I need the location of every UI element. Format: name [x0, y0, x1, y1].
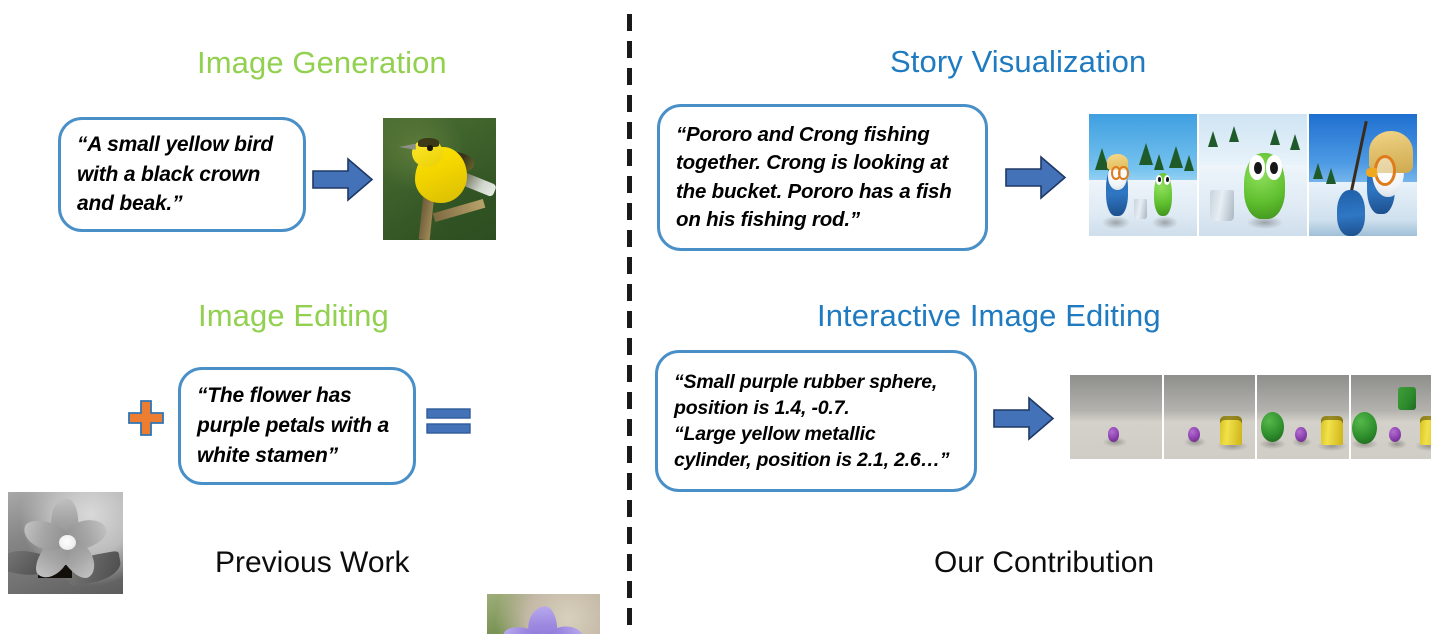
prompt-text-image-editing: “The flower has purple petals with a whi… — [181, 381, 413, 470]
prompt-text-image-generation: “A small yellow bird with a black crown … — [61, 130, 303, 219]
figure-canvas: Image Generation “A small yellow bird wi… — [0, 0, 1431, 634]
arrow-right-icon-interactive-image-editing — [993, 396, 1055, 441]
equals-operator-icon — [426, 408, 471, 435]
section-title-interactive-image-editing: Interactive Image Editing — [817, 300, 1161, 331]
input-image-grayscale-flower — [8, 492, 123, 594]
caption-our-contribution: Our Contribution — [934, 548, 1154, 578]
arrow-right-icon-story-visualization — [1005, 155, 1067, 200]
prompt-text-interactive-image-editing: “Small purple rubber sphere, position is… — [658, 369, 974, 474]
prompt-box-image-generation[interactable]: “A small yellow bird with a black crown … — [58, 117, 306, 232]
clevr-frame-1 — [1070, 375, 1162, 459]
caption-previous-work: Previous Work — [215, 548, 410, 578]
clevr-frame-2 — [1164, 375, 1256, 459]
plus-operator-icon — [128, 400, 164, 436]
clevr-frame-4 — [1351, 375, 1431, 459]
output-image-purple-flower — [487, 594, 600, 634]
output-image-yellow-bird — [383, 118, 496, 240]
prompt-box-story-visualization[interactable]: “Pororo and Crong fishing together. Cron… — [657, 104, 988, 251]
prompt-text-story-visualization: “Pororo and Crong fishing together. Cron… — [660, 121, 985, 234]
prompt-box-interactive-image-editing[interactable]: “Small purple rubber sphere, position is… — [655, 350, 977, 492]
section-title-image-generation: Image Generation — [197, 47, 447, 78]
prompt-box-image-editing[interactable]: “The flower has purple petals with a whi… — [178, 367, 416, 485]
section-title-image-editing: Image Editing — [198, 300, 389, 331]
output-strip-clevr-frames — [1070, 375, 1431, 459]
section-title-story-visualization: Story Visualization — [890, 46, 1146, 77]
story-frame-2 — [1199, 114, 1307, 236]
clevr-frame-3 — [1257, 375, 1349, 459]
story-frame-1 — [1089, 114, 1197, 236]
vertical-dashed-divider — [627, 14, 632, 626]
arrow-right-icon-image-generation — [312, 157, 374, 202]
story-frame-3 — [1309, 114, 1417, 236]
output-strip-pororo-story — [1089, 114, 1417, 236]
